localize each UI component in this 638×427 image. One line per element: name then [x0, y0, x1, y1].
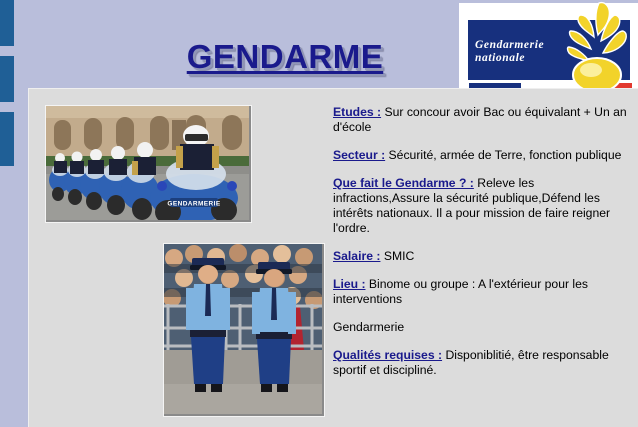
photo-gendarmes-motorcycles: GENDARMERIE: [45, 105, 252, 223]
paragraph-lieu: Lieu : Binome ou groupe : A l'extérieur …: [333, 277, 633, 307]
decorative-bar-2: [0, 56, 14, 102]
label-qualites-requises: Qualités requises :: [333, 348, 442, 362]
value-gendarmerie: Gendarmerie: [333, 320, 404, 334]
paragraph-que-fait-le-gendarme: Que fait le Gendarme ? : Releve les infr…: [333, 176, 633, 236]
paragraph-salaire: Salaire : SMIC: [333, 249, 633, 264]
paragraph-secteur: Secteur : Sécurité, armée de Terre, fonc…: [333, 148, 633, 163]
paragraph-gendarmerie: Gendarmerie: [333, 320, 633, 335]
decorative-bar-1: [0, 0, 14, 46]
photo-pair-art: [164, 244, 322, 414]
page-title: GENDARME: [120, 40, 450, 75]
label-salaire: Salaire :: [333, 249, 380, 263]
decorative-bar-3: [0, 112, 14, 166]
photo-motorcycles-art: GENDARMERIE: [46, 106, 249, 220]
page-title-text: GENDARME: [187, 40, 384, 75]
slide: GENDARME Gendarmerie nationale: [0, 0, 638, 426]
gendarmerie-nationale-logo: Gendarmerie nationale: [459, 3, 638, 98]
label-etudes: Etudes :: [333, 105, 381, 119]
logo-wordmark-line1: Gendarmerie: [475, 39, 544, 52]
content-panel: GENDARMERIE: [28, 88, 638, 427]
label-secteur: Secteur :: [333, 148, 385, 162]
photo-gendarmes-crowd-control: [163, 243, 325, 417]
value-salaire: SMIC: [380, 249, 414, 263]
paragraph-qualites-requises: Qualités requises : Disponiblitié, être …: [333, 348, 633, 378]
label-que-fait-le-gendarme: Que fait le Gendarme ? :: [333, 176, 474, 190]
label-lieu: Lieu :: [333, 277, 366, 291]
job-description-text: Etudes : Sur concour avoir Bac ou équiva…: [333, 105, 633, 378]
paragraph-etudes: Etudes : Sur concour avoir Bac ou équiva…: [333, 105, 633, 135]
value-lieu: Binome ou groupe : A l'extérieur pour le…: [333, 277, 588, 306]
logo-wordmark: Gendarmerie nationale: [475, 39, 544, 65]
value-secteur: Sécurité, armée de Terre, fonction publi…: [385, 148, 621, 162]
flaming-grenade-icon: [555, 1, 635, 96]
svg-text:GENDARMERIE: GENDARMERIE: [167, 201, 220, 208]
logo-wordmark-line2: nationale: [475, 52, 544, 65]
